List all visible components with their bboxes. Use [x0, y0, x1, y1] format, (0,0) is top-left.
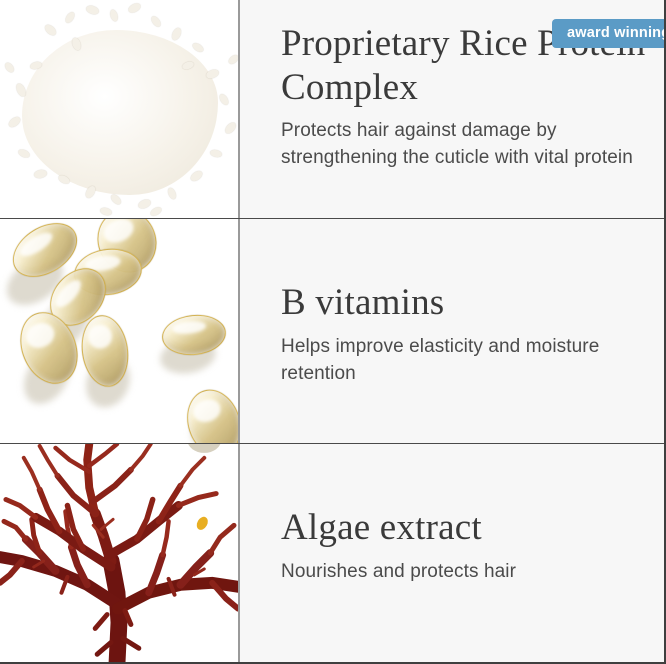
rice-pile — [22, 30, 218, 195]
algae-artwork — [0, 444, 238, 663]
algae-heading: Algae extract — [281, 444, 666, 550]
algae-content: Algae extract Nourishes and protects hai… — [240, 444, 666, 664]
rice-heading: Proprietary Rice Protein Complex — [281, 0, 666, 110]
b-vitamins-body: Helps improve elasticity and moisture re… — [281, 325, 666, 387]
red-algae-image — [0, 444, 240, 664]
rice-artwork — [0, 0, 238, 218]
rice-grains-image — [0, 0, 240, 218]
vitamin-capsules-image — [0, 219, 240, 443]
algae-body: Nourishes and protects hair — [281, 550, 666, 586]
rice-body: Protects hair against damage by strength… — [281, 110, 666, 171]
b-vitamins-content: B vitamins Helps improve elasticity and … — [240, 219, 666, 443]
award-winning-badge: award winning — [552, 19, 666, 48]
b-vitamins-heading: B vitamins — [281, 219, 666, 325]
ingredient-row-b-vitamins: B vitamins Helps improve elasticity and … — [0, 218, 666, 443]
ingredients-infographic: Proprietary Rice Protein Complex Protect… — [0, 0, 666, 664]
ingredient-row-algae: Algae extract Nourishes and protects hai… — [0, 443, 666, 664]
capsules-artwork — [0, 219, 238, 443]
